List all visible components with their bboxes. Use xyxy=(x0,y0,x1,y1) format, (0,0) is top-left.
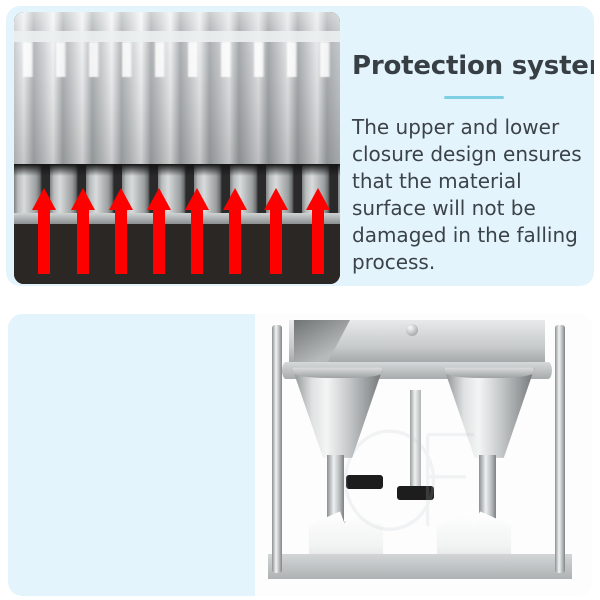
support-post-right xyxy=(555,325,565,573)
brand-watermark-icon xyxy=(329,421,518,539)
protection-system-title: Protection system xyxy=(352,50,592,82)
protection-system-text: Protection system The upper and lower cl… xyxy=(352,50,592,276)
hood-knob-icon xyxy=(406,324,418,336)
title-divider xyxy=(444,96,504,99)
arrow-group xyxy=(14,175,340,278)
section-protection-system: Protection system The upper and lower cl… xyxy=(6,6,594,286)
support-post-left xyxy=(272,325,282,573)
infographic-page: Protection system The upper and lower cl… xyxy=(0,0,600,600)
up-arrow-icon xyxy=(306,171,330,274)
conveyor-highlight xyxy=(14,42,340,77)
conveyor-top-bar xyxy=(14,31,340,42)
protection-system-photo xyxy=(14,12,340,284)
filling-machine-illustration xyxy=(255,314,592,596)
up-arrow-icon xyxy=(147,171,171,274)
section-bottle-locator: Bottle locator The V locator can be adju… xyxy=(8,314,592,596)
bottle-locator-photo xyxy=(255,314,592,596)
machine-hood xyxy=(289,320,545,365)
up-arrow-icon xyxy=(264,171,288,274)
up-arrow-icon xyxy=(223,171,247,274)
up-arrow-icon xyxy=(32,171,56,274)
up-arrow-icon xyxy=(109,171,133,274)
up-arrow-icon xyxy=(71,171,95,274)
machine-base-plate xyxy=(268,554,571,579)
protection-system-body: The upper and lower closure design ensur… xyxy=(352,114,588,276)
up-arrow-icon xyxy=(185,171,209,274)
